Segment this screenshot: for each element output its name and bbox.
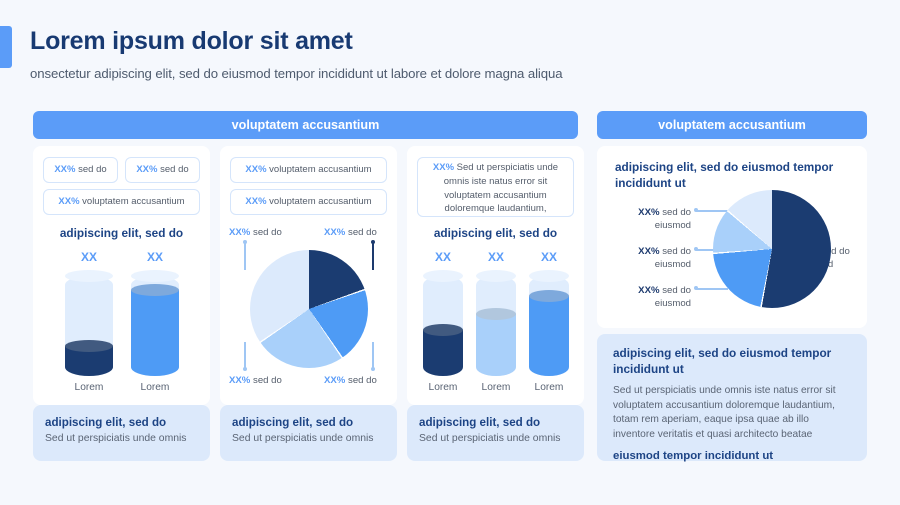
pie-callout-percent: XX% <box>324 227 345 238</box>
bar-fill <box>131 290 179 376</box>
pie-callout-percent: XX% <box>324 375 345 386</box>
chip-percent: XX% <box>136 164 157 175</box>
chip-text: sed do <box>78 164 107 175</box>
pie-connector <box>696 210 728 212</box>
bar-label: Lorem <box>417 382 469 393</box>
pie-callout-label: XX% sed do <box>324 374 377 387</box>
bar-label: Lorem <box>523 382 575 393</box>
panel-heading: adipiscing elit, sed do <box>407 226 584 240</box>
pie-connector-dot <box>371 367 375 371</box>
pie-callout-percent: XX% <box>229 375 250 386</box>
pie-connector <box>696 288 728 290</box>
bar-fill-top-ellipse <box>131 284 179 296</box>
bar-label: Lorem <box>125 382 185 393</box>
pie-connector <box>372 242 374 270</box>
cylinder-top-ellipse <box>131 270 179 282</box>
pie-callout-percent: XX% <box>229 227 250 238</box>
pie-connector <box>244 342 246 370</box>
pie-callout-text: sed do eiusmod <box>655 246 691 270</box>
caption-text: Sed ut perspiciatis unde omnis <box>419 433 572 444</box>
chip-percent: XX% <box>54 164 75 175</box>
pie-connector-dot <box>694 286 698 290</box>
pie-chart <box>250 250 368 368</box>
bar-cylinder <box>529 276 569 376</box>
bar-fill-top-ellipse <box>529 290 569 302</box>
pie-connector-dot <box>243 367 247 371</box>
panel-caption: adipiscing elit, sed do Sed ut perspicia… <box>33 405 210 461</box>
bar-value: XX <box>470 250 522 264</box>
pie-callout-percent: XX% <box>638 246 659 257</box>
pie-callout-percent: XX% <box>638 285 659 296</box>
panel-bar-chart-three: XX% Sed ut perspiciatis unde omnis iste … <box>407 146 584 405</box>
bar-column: XX Lorem <box>417 250 469 398</box>
bar-fill <box>529 296 569 376</box>
panel-caption: adipiscing elit, sed do Sed ut perspicia… <box>407 405 584 461</box>
bar-value: XX <box>523 250 575 264</box>
panel-heading: adipiscing elit, sed do <box>33 226 210 240</box>
pie-connector-dot <box>371 240 375 244</box>
bar-fill <box>65 346 113 376</box>
bar-fill <box>423 330 463 376</box>
caption-text: Sed ut perspiciatis unde omnis <box>232 433 385 444</box>
bar-column: XX Lorem <box>470 250 522 398</box>
bar-cylinder <box>131 276 179 376</box>
pie-callout-text: sed do <box>253 227 282 238</box>
cylinder-top-ellipse <box>476 270 516 282</box>
cylinder-top-ellipse <box>423 270 463 282</box>
pie-callout-percent: XX% <box>638 207 659 218</box>
bar-label: Lorem <box>59 382 119 393</box>
right-block-body: Sed ut perspiciatis unde omnis iste natu… <box>613 384 851 443</box>
pie-callout-text: sed do eiusmod <box>655 285 691 309</box>
pie-connector-dot <box>694 247 698 251</box>
pie-callout-text: sed do eiusmod <box>655 207 691 231</box>
title-accent-bar <box>0 26 12 68</box>
pie-callout-label: XX% sed do <box>324 226 377 239</box>
chip-stat: XX% Sed ut perspiciatis unde omnis iste … <box>417 157 574 217</box>
bar-fill-top-ellipse <box>65 340 113 352</box>
bar-column: XX Lorem <box>523 250 575 398</box>
bar-column: XX Lorem <box>125 250 185 398</box>
panel-right-pie-chart: adipiscing elit, sed do eiusmod tempor i… <box>597 146 867 328</box>
bar-cylinder <box>65 276 113 376</box>
bar-value: XX <box>417 250 469 264</box>
right-pie-heading: adipiscing elit, sed do eiusmod tempor i… <box>615 160 845 192</box>
cylinder-top-ellipse <box>65 270 113 282</box>
pie-callout-text: sed do <box>348 375 377 386</box>
cylinder-top-ellipse <box>529 270 569 282</box>
chip-stat: XX% voluptatem accusantium <box>43 189 200 215</box>
chip-percent: XX% <box>433 162 454 173</box>
pie-connector <box>372 342 374 370</box>
bar-fill-top-ellipse <box>476 308 516 320</box>
chip-text: sed do <box>160 164 189 175</box>
panel-caption: adipiscing elit, sed do Sed ut perspicia… <box>220 405 397 461</box>
chip-text: voluptatem accusantium <box>269 196 371 207</box>
bar-label: Lorem <box>470 382 522 393</box>
panel-right-text-block: adipiscing elit, sed do eiusmod tempor i… <box>597 334 867 461</box>
chip-percent: XX% <box>245 196 266 207</box>
right-block-footer: eiusmod tempor incididunt ut <box>613 450 851 462</box>
chip-stat: XX% voluptatem accusantium <box>230 189 387 215</box>
bar-fill <box>476 314 516 376</box>
chip-text: Sed ut perspiciatis unde omnis iste natu… <box>444 162 558 214</box>
pie-callout-label: XX% sed do <box>229 374 282 387</box>
caption-title: adipiscing elit, sed do <box>419 416 572 430</box>
pie-callout-label: XX% sed do eiusmod <box>611 245 691 272</box>
bar-value: XX <box>59 250 119 264</box>
chip-stat: XX% voluptatem accusantium <box>230 157 387 183</box>
pie-chart <box>713 190 831 308</box>
chip-percent: XX% <box>58 196 79 207</box>
bar-fill-top-ellipse <box>423 324 463 336</box>
pie-connector <box>244 242 246 270</box>
bar-column: XX Lorem <box>59 250 119 398</box>
panel-bar-chart-two: XX% sed do XX% sed do XX% voluptatem acc… <box>33 146 210 405</box>
pie-callout-text: sed do <box>348 227 377 238</box>
section-banner-right: voluptatem accusantium <box>597 111 867 139</box>
chip-percent: XX% <box>245 164 266 175</box>
chip-text: voluptatem accusantium <box>82 196 184 207</box>
caption-text: Sed ut perspiciatis unde omnis <box>45 433 198 444</box>
pie-callout-label: XX% sed do eiusmod <box>611 284 691 311</box>
chip-stat: XX% sed do <box>43 157 118 183</box>
caption-title: adipiscing elit, sed do <box>232 416 385 430</box>
chip-stat: XX% sed do <box>125 157 200 183</box>
page-title: Lorem ipsum dolor sit amet <box>30 27 353 56</box>
section-banner-left: voluptatem accusantium <box>33 111 578 139</box>
pie-connector-dot <box>243 240 247 244</box>
pie-callout-text: sed do <box>253 375 282 386</box>
panel-pie-chart: XX% voluptatem accusantium XX% voluptate… <box>220 146 397 405</box>
page-subtitle: onsectetur adipiscing elit, sed do eiusm… <box>30 66 562 81</box>
bar-cylinder <box>476 276 516 376</box>
bar-value: XX <box>125 250 185 264</box>
caption-title: adipiscing elit, sed do <box>45 416 198 430</box>
right-block-heading: adipiscing elit, sed do eiusmod tempor i… <box>613 346 851 378</box>
pie-callout-label: XX% sed do <box>229 226 282 239</box>
chip-text: voluptatem accusantium <box>269 164 371 175</box>
bar-cylinder <box>423 276 463 376</box>
pie-connector-dot <box>694 208 698 212</box>
pie-callout-label: XX% sed do eiusmod <box>611 206 691 233</box>
